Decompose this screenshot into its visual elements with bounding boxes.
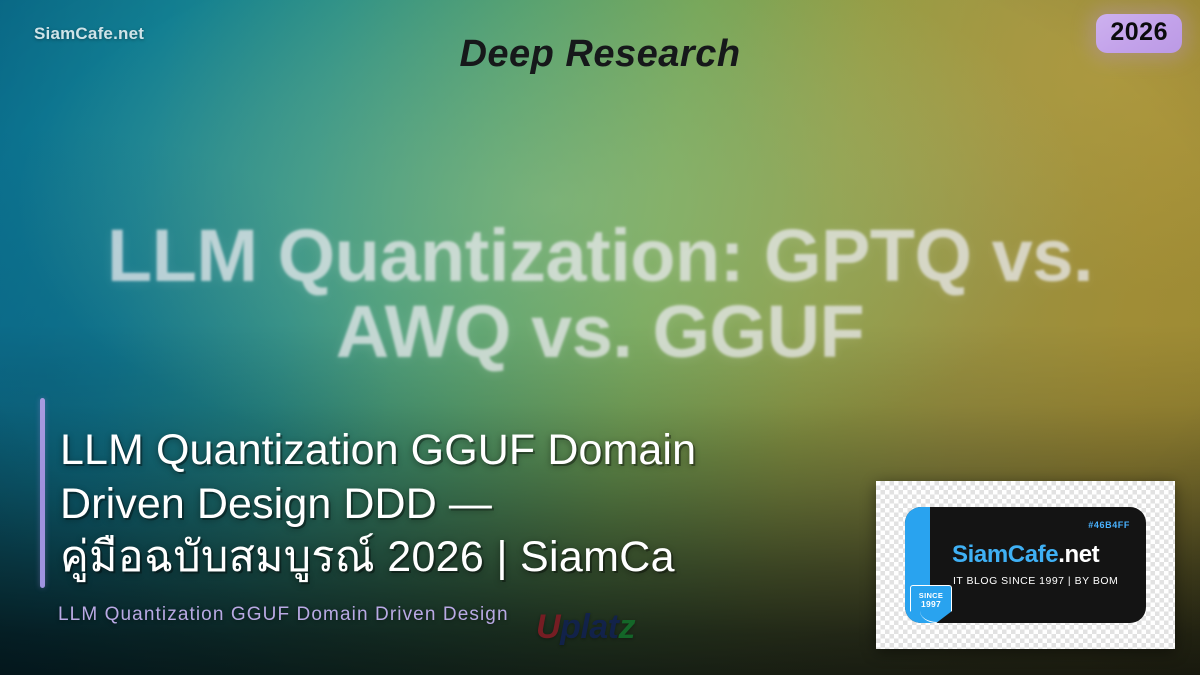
shield-label-year: 1997 bbox=[911, 600, 951, 609]
accent-bar bbox=[40, 398, 45, 588]
card-title-brand: SiamCafe bbox=[952, 541, 1058, 568]
page-title-line-3: คู่มือฉบับสมบูรณ์ 2026 | SiamCa bbox=[60, 531, 860, 585]
card-tagline: IT BLOG SINCE 1997 | BY BOM bbox=[953, 575, 1118, 587]
uplatz-logo: Uplatz bbox=[536, 608, 635, 647]
uplatz-logo-part-2: plat bbox=[560, 608, 618, 646]
page-title-line-2: Driven Design DDD — bbox=[60, 478, 860, 532]
page-title-line-1: LLM Quantization GGUF Domain bbox=[60, 424, 860, 478]
uplatz-logo-part-3: z bbox=[619, 608, 636, 646]
eyebrow-label: Deep Research bbox=[0, 33, 1200, 76]
shield-swoosh-icon bbox=[920, 611, 954, 623]
year-badge-value: 2026 bbox=[1110, 18, 1168, 46]
siamcafe-card-image: #46B4FF SiamCafe.net IT BLOG SINCE 1997 … bbox=[876, 481, 1175, 649]
page-title: LLM Quantization GGUF Domain Driven Desi… bbox=[60, 424, 860, 585]
siamcafe-card: #46B4FF SiamCafe.net IT BLOG SINCE 1997 … bbox=[905, 507, 1146, 623]
card-title: SiamCafe.net bbox=[952, 543, 1099, 567]
uplatz-logo-part-1: U bbox=[536, 608, 560, 646]
year-badge: 2026 bbox=[1096, 14, 1182, 53]
subtitle-caption: LLM Quantization GGUF Domain Driven Desi… bbox=[58, 604, 509, 626]
card-hexcode-label: #46B4FF bbox=[1088, 520, 1130, 530]
card-title-suffix: .net bbox=[1058, 541, 1099, 568]
slide-canvas: SiamCafe.net Deep Research 2026 LLM Quan… bbox=[0, 0, 1200, 675]
